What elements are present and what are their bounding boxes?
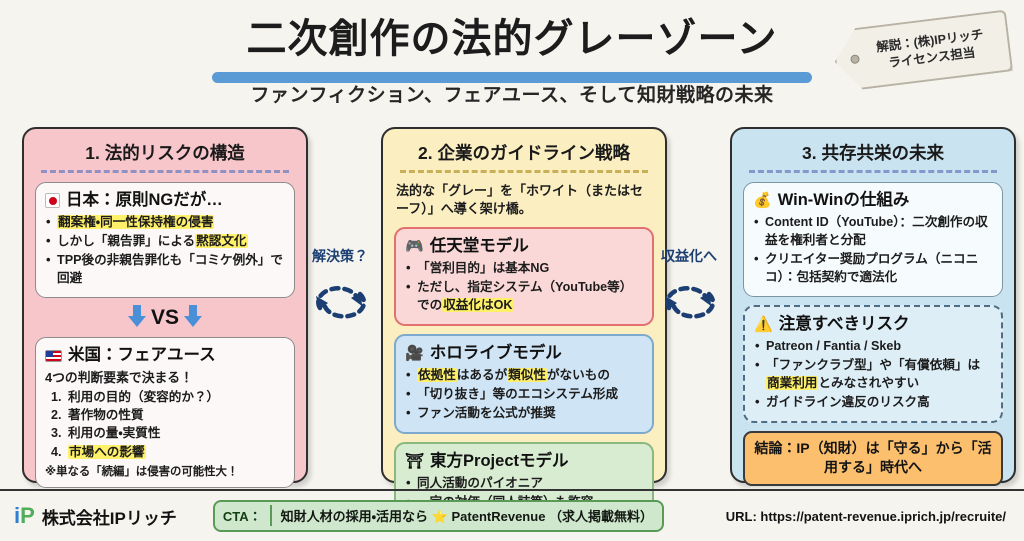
card-risks: ⚠️ 注意すべきリスク Patreon / Fantia / Skeb 「ファン… [743,305,1003,423]
list-item: 「ファンクラブ型」や「有償依頼」は商業利用とみなされやすい [754,357,992,393]
card-touhou-title-row: ⛩ 東方Projectモデル [405,451,643,472]
footer: iP 株式会社IPリッチ CTA： 知財人材の採用・活用なら ⭐ PatentR… [0,489,1024,541]
card-hololive-title-row: 🎥 ホロライブモデル [405,343,643,364]
vs-label: VS [151,306,179,330]
card-japan-bullets: 翻案権・同一性保持権の侵害 しかし「親告罪」による黙認文化 TPP後の非親告罪化… [45,214,285,288]
panel-3-heading: 3. 共存共栄の未来 [743,138,1003,170]
panel-3-divider [749,170,997,173]
list-item: 翻案権・同一性保持権の侵害 [45,214,285,232]
card-nintendo-model: 🎮 任天堂モデル 「営利目的」は基本NG ただし、指定システム（YouTube等… [394,227,654,326]
list-item: Patreon / Fantia / Skeb [754,338,992,356]
card-win-win: 💰 Win-Winの仕組み Content ID（YouTube）：二次創作の収… [743,182,1003,297]
card-touhou-title: 東方Projectモデル [430,451,568,472]
footer-url[interactable]: URL: https://patent-revenue.iprich.jp/re… [726,509,1006,524]
page-title: 二次創作の法的グレーゾーン [247,14,778,64]
list-item: しかし「親告罪」による黙認文化 [45,233,285,251]
card-usa-note: ※単なる「続編」は侵害の可能性大！ [45,463,285,479]
connector-2-label: 収益化へ [661,246,717,266]
card-usa-factors: 利用の目的（変容的か？） 著作物の性質 利用の量・実質性 市場への影響 [45,388,285,461]
card-japan: 日本：原則NGだが… 翻案権・同一性保持権の侵害 しかし「親告罪」による黙認文化… [35,182,295,298]
iprich-logo-icon: iP [14,505,35,527]
conclusion-banner: 結論：IP（知財）は「守る」から「活用する」時代へ [743,431,1003,486]
card-hololive-model: 🎥 ホロライブモデル 依拠性はあるが類似性がないもの 「切り抜き」等のエコシステ… [394,334,654,434]
list-item: 利用の量・実質性 [51,424,285,442]
panel-1-heading: 1. 法的リスクの構造 [35,138,295,170]
circular-arrow-icon [306,268,374,330]
card-nintendo-bullets: 「営利目的」は基本NG ただし、指定システム（YouTube等）での収益化はOK [405,260,643,315]
card-risks-title: 注意すべきリスク [779,314,910,335]
list-item: 著作物の性質 [51,406,285,424]
card-usa-title-row: 米国：フェアユース [45,345,285,366]
card-usa: 米国：フェアユース 4つの判断要素で決まる！ 利用の目的（変容的か？） 著作物の… [35,337,295,488]
infographic-canvas: 二次創作の法的グレーゾーン ファンフィクション、フェアユース、そして知財戦略の未… [0,0,1024,541]
card-win-win-title: Win-Winの仕組み [778,190,910,211]
circular-arrow-icon [655,268,723,330]
list-item: 市場への影響 [51,443,285,461]
star-icon: ⭐ [432,509,448,524]
panel-coexistence-future: 3. 共存共栄の未来 💰 Win-Winの仕組み Content ID（YouT… [730,127,1016,483]
list-item: ガイドライン違反のリスク高 [754,394,992,412]
brand-name: 株式会社IPリッチ [42,504,177,529]
card-hololive-bullets: 依拠性はあるが類似性がないもの 「切り抜き」等のエコシステム形成 ファン活動を公… [405,367,643,423]
card-japan-title-row: 日本：原則NGだが… [45,190,285,211]
panel-legal-risk: 1. 法的リスクの構造 日本：原則NGだが… 翻案権・同一性保持権の侵害 しかし… [22,127,308,483]
cta-text-after: PatentRevenue （求人掲載無料） [452,509,654,524]
connector-monetization: 収益化へ [653,248,725,332]
vs-row: VS [35,306,295,330]
connector-1-label: 解決策？ [312,246,368,266]
list-item: 「営利目的」は基本NG [405,260,643,278]
torii-gate-icon: ⛩ [405,454,424,469]
bullet-text: 翻案権・同一性保持権の侵害 [57,215,214,229]
money-bag-icon: 💰 [753,193,772,208]
card-hololive-title: ホロライブモデル [430,343,562,364]
card-risks-bullets: Patreon / Fantia / Skeb 「ファンクラブ型」や「有償依頼」… [754,338,992,412]
cta-banner[interactable]: CTA： 知財人材の採用・活用なら ⭐ PatentRevenue （求人掲載無… [213,500,664,532]
card-japan-title: 日本：原則NGだが… [66,190,223,211]
list-item: 依拠性はあるが類似性がないもの [405,367,643,385]
cta-text: 知財人材の採用・活用なら ⭐ PatentRevenue （求人掲載無料） [281,506,653,525]
card-usa-title: 米国：フェアユース [68,345,216,366]
list-item: ただし、指定システム（YouTube等）での収益化はOK [405,279,643,315]
card-win-win-title-row: 💰 Win-Winの仕組み [753,190,993,211]
panel-2-lead: 法的な「グレー」を「ホワイト（またはセーフ）」へ導く架け橋。 [396,182,652,219]
list-item: 「切り抜き」等のエコシステム形成 [405,386,643,404]
list-item: 利用の目的（変容的か？） [51,388,285,406]
panel-2-heading: 2. 企業のガイドライン戦略 [394,138,654,170]
usa-flag-icon [45,350,62,362]
card-nintendo-title: 任天堂モデル [430,236,529,257]
connector-solution: 解決策？ [304,248,376,332]
warning-icon: ⚠️ [754,317,773,332]
list-item: クリエイター奨励プログラム（ニコニコ）：包括契約で適法化 [753,251,993,287]
list-item: ファン活動を公式が推奨 [405,405,643,423]
gamepad-icon: 🎮 [405,239,424,254]
cta-badge: CTA： [220,505,272,526]
tag-hole-icon [850,54,860,64]
japan-flag-icon [45,193,60,208]
header: 二次創作の法的グレーゾーン ファンフィクション、フェアユース、そして知財戦略の未… [0,0,1024,118]
panel-1-divider [41,170,289,173]
panel-2-divider [400,170,648,173]
card-usa-lead: 4つの判断要素で決まる！ [45,369,285,388]
card-risks-title-row: ⚠️ 注意すべきリスク [754,314,992,335]
panel-guideline-strategy: 2. 企業のガイドライン戦略 法的な「グレー」を「ホワイト（またはセーフ）」へ導… [381,127,667,483]
list-item: TPP後の非親告罪化も「コミケ例外」で回避 [45,252,285,288]
cta-text-before: 知財人材の採用・活用なら [281,509,428,524]
bullet-text: 市場への影響 [68,445,146,459]
card-win-win-bullets: Content ID（YouTube）：二次創作の収益を権利者と分配 クリエイタ… [753,214,993,287]
video-camera-icon: 🎥 [405,346,424,361]
list-item: Content ID（YouTube）：二次創作の収益を権利者と分配 [753,214,993,250]
card-nintendo-title-row: 🎮 任天堂モデル [405,236,643,257]
brand: iP 株式会社IPリッチ [14,504,177,529]
